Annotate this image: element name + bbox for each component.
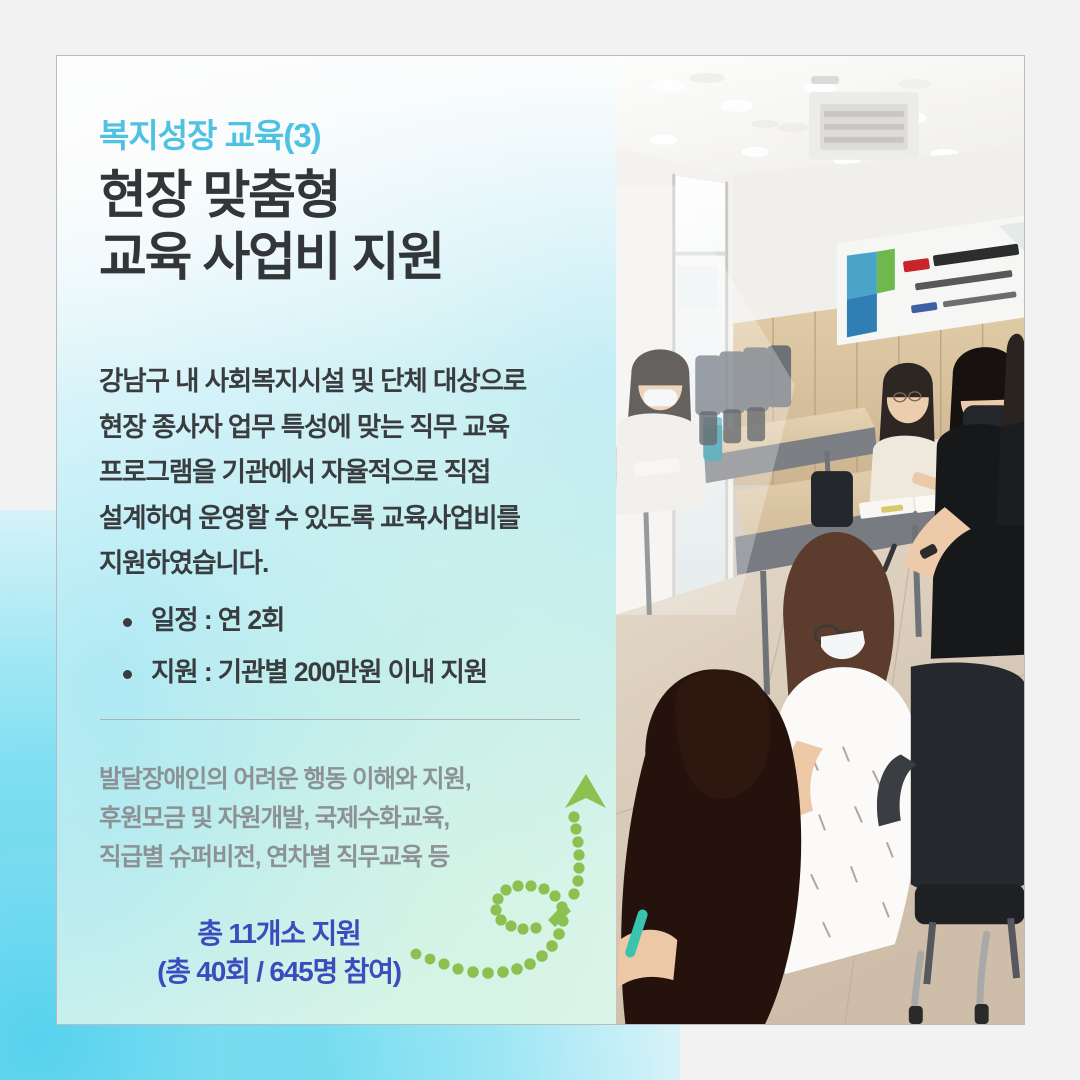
training-photo — [616, 56, 1024, 1024]
card-text-panel: 복지성장 교육(3) 현장 맞춤형 교육 사업비 지원 강남구 내 사회복지시설… — [57, 56, 616, 1024]
list-item: 일정 : 연 2회 — [121, 607, 576, 634]
info-card: 복지성장 교육(3) 현장 맞춤형 교육 사업비 지원 강남구 내 사회복지시설… — [56, 55, 1025, 1025]
detail-bullet-list: 일정 : 연 2회 지원 : 기관별 200만원 이내 지원 — [99, 607, 576, 686]
summary-block: 총 11개소 지원 (총 40회 / 645명 참여) — [99, 915, 459, 991]
list-item: 지원 : 기관별 200만원 이내 지원 — [121, 659, 576, 686]
eyebrow-label: 복지성장 교육(3) — [99, 118, 576, 154]
training-photo-illustration — [616, 56, 1024, 1024]
poster-canvas: 복지성장 교육(3) 현장 맞춤형 교육 사업비 지원 강남구 내 사회복지시설… — [0, 0, 1080, 1080]
summary-total-sessions: (총 40회 / 645명 참여) — [99, 953, 459, 991]
section-divider — [100, 719, 580, 720]
page-title: 현장 맞춤형 교육 사업비 지원 — [99, 166, 576, 289]
summary-total-orgs: 총 11개소 지원 — [99, 915, 459, 953]
body-paragraph: 강남구 내 사회복지시설 및 단체 대상으로 현장 종사자 업무 특성에 맞는 … — [99, 359, 576, 587]
program-examples-note: 발달장애인의 어려운 행동 이해와 지원, 후원모금 및 자원개발, 국제수화교… — [99, 760, 576, 878]
